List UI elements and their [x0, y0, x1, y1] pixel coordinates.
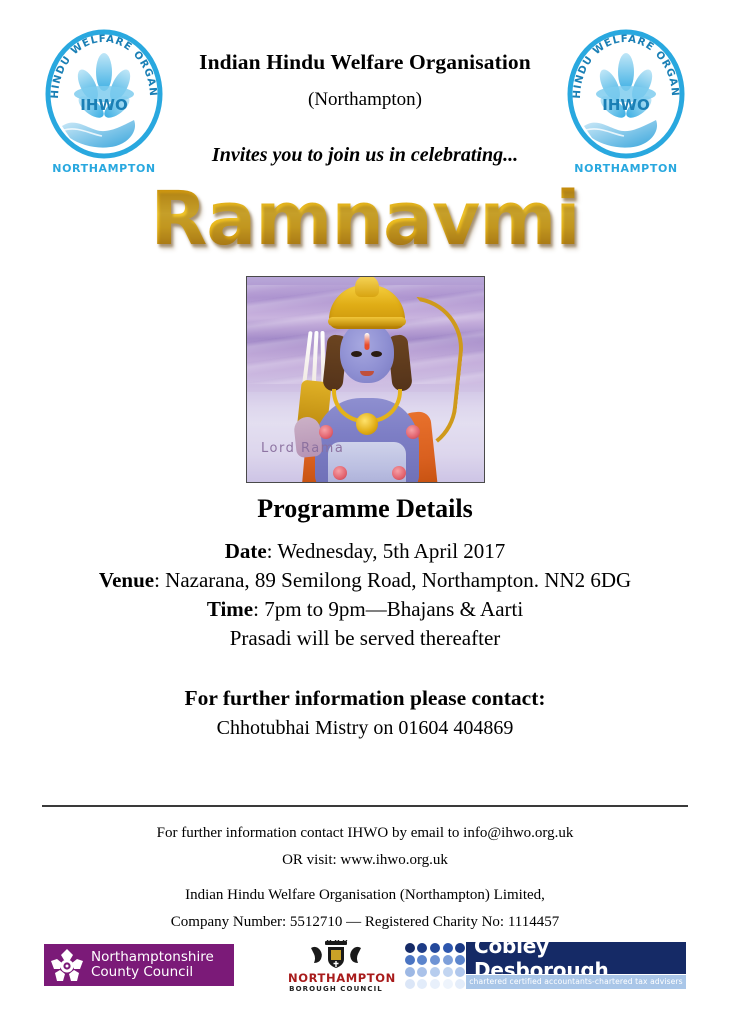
ncc-line2: County Council: [91, 965, 214, 980]
image-caption: Lord Rama: [261, 441, 344, 456]
sponsor-logos: Northamptonshire County Council NORTHAMP…: [0, 940, 730, 1000]
footer-website-line: OR visit: www.ihwo.org.uk: [0, 847, 730, 874]
eye-left: [351, 351, 362, 357]
tilak-mark: [364, 333, 369, 350]
detail-value-time: 7pm to 9pm—Bhajans & Aarti: [264, 597, 523, 621]
nbc-line1: NORTHAMPTON: [288, 971, 384, 985]
detail-value-venue: Nazarana, 89 Semilong Road, Northampton.…: [165, 568, 631, 592]
poster-footer: For further information contact IHWO by …: [0, 820, 730, 936]
sponsor-northampton-borough-council: NORTHAMPTON BOROUGH COUNCIL: [288, 940, 384, 992]
prasadi-note: Prasadi will be served thereafter: [0, 624, 730, 653]
svg-text:IHWO: IHWO: [80, 96, 127, 114]
cobley-name-bar: Cobley Desborough: [466, 942, 686, 974]
svg-text:NORTHAMPTON: NORTHAMPTON: [52, 162, 155, 175]
detail-value-date: Wednesday, 5th April 2017: [277, 539, 505, 563]
detail-label-time: Time: [207, 597, 253, 621]
flower-ornament: [319, 425, 333, 439]
svg-text:NORTHAMPTON: NORTHAMPTON: [574, 162, 677, 175]
flower-ornament: [333, 466, 347, 480]
flower-ornament: [392, 466, 406, 480]
footer-spacer: [0, 874, 730, 882]
invitation-line: Invites you to join us in celebrating...: [145, 144, 585, 167]
necklace-medallion: [356, 413, 378, 435]
contact-heading: For further information please contact:: [0, 686, 730, 711]
crown-finial: [355, 276, 379, 297]
detail-separator: :: [267, 539, 278, 563]
borough-crest-icon: [305, 940, 367, 970]
footer-divider: [42, 805, 688, 807]
cobley-tagline: chartered certified accountants-chartere…: [466, 975, 686, 989]
sponsor-northamptonshire-county-council: Northamptonshire County Council: [44, 944, 234, 986]
organisation-subtitle: (Northampton): [165, 89, 565, 111]
rose-emblem-icon: [50, 948, 84, 982]
footer-legal-name: Indian Hindu Welfare Organisation (North…: [0, 882, 730, 909]
footer-email-line: For further information contact IHWO by …: [0, 820, 730, 847]
ncc-text: Northamptonshire County Council: [91, 950, 214, 980]
festival-title-container: Ramnavmi: [0, 182, 730, 257]
crown-band: [328, 317, 406, 326]
svg-text:IHWO: IHWO: [602, 96, 649, 114]
detail-label-date: Date: [225, 539, 267, 563]
organisation-title: Indian Hindu Welfare Organisation: [165, 50, 565, 75]
programme-details: Date: Wednesday, 5th April 2017 Venue: N…: [0, 537, 730, 653]
sponsor-cobley-desborough: Cobley Desborough chartered certified ac…: [404, 942, 686, 990]
detail-row-time: Time: 7pm to 9pm—Bhajans & Aarti: [0, 595, 730, 624]
detail-row-venue: Venue: Nazarana, 89 Semilong Road, North…: [0, 566, 730, 595]
poster-page: INDIAN HINDU WELFARE ORGANISATION IHWO N…: [0, 0, 730, 1033]
poster-header: INDIAN HINDU WELFARE ORGANISATION IHWO N…: [0, 16, 730, 176]
flower-ornament: [406, 425, 420, 439]
contact-name-phone: Chhotubhai Mistry on 01604 404869: [0, 717, 730, 740]
programme-heading: Programme Details: [0, 494, 730, 524]
footer-registration: Company Number: 5512710 — Registered Cha…: [0, 909, 730, 936]
nbc-line2: BOROUGH COUNCIL: [288, 985, 384, 993]
cobley-dot-grid-icon: [404, 942, 466, 990]
detail-label-venue: Venue: [99, 568, 154, 592]
detail-row-date: Date: Wednesday, 5th April 2017: [0, 537, 730, 566]
ncc-line1: Northamptonshire: [91, 950, 214, 965]
eye-right: [371, 351, 382, 357]
detail-separator: :: [253, 597, 264, 621]
lord-rama-image: Lord Rama: [246, 276, 485, 483]
festival-title: Ramnavmi: [150, 182, 579, 257]
detail-separator: :: [154, 568, 165, 592]
